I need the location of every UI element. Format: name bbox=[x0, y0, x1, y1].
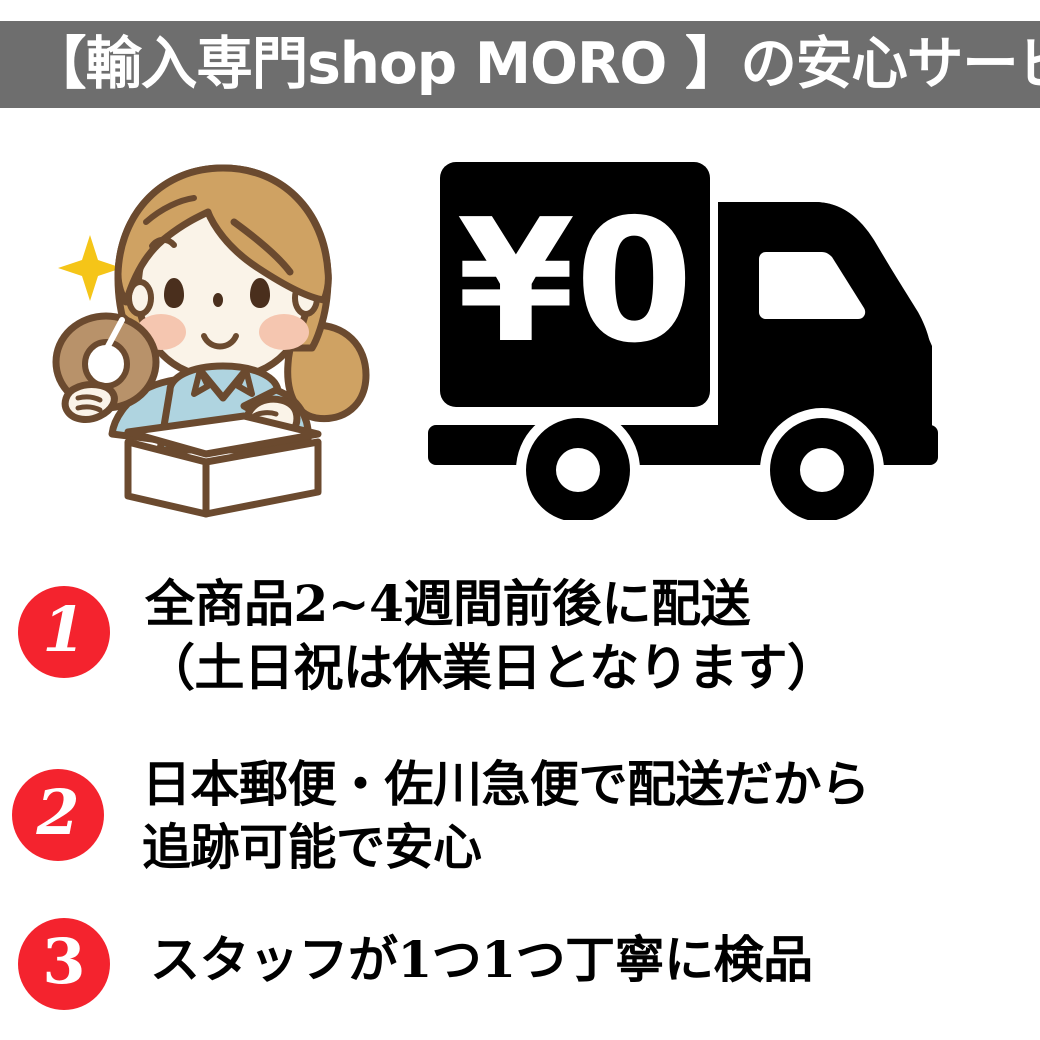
cheek-right bbox=[259, 314, 309, 350]
service-info-banner: 【輸入専門shop MORO 】の安心サービス bbox=[0, 0, 1040, 1040]
truck-wheel-rear-hub bbox=[556, 448, 600, 492]
free-shipping-truck-illustration: ¥0 bbox=[418, 140, 988, 520]
sparkle-icon bbox=[58, 235, 122, 301]
point-badge-1: 1 bbox=[18, 586, 110, 678]
point-text-1: 全商品2~4週間前後に配送 （土日祝は休業日となります） bbox=[145, 572, 1028, 700]
point-badge-2: 2 bbox=[12, 769, 104, 861]
truck-illustration-svg: ¥0 bbox=[418, 140, 988, 520]
list-item: 2 日本郵便・佐川急便で配送だから 追跡可能で安心 bbox=[12, 761, 1028, 878]
point-text-3: スタッフが1つ1つ丁寧に検品 bbox=[150, 928, 1028, 992]
list-item: 3 スタッフが1つ1つ丁寧に検品 bbox=[18, 918, 1028, 1010]
illustration-row: ¥0 bbox=[0, 120, 1040, 520]
page-title: 【輸入専門shop MORO 】の安心サービス bbox=[30, 36, 1040, 93]
point-text-2: 日本郵便・佐川急便で配送だから 追跡可能で安心 bbox=[142, 753, 1028, 878]
hand-left bbox=[65, 385, 114, 420]
staff-inspecting-package-illustration bbox=[48, 150, 398, 520]
staff-illustration-svg bbox=[48, 150, 398, 520]
list-item: 1 全商品2~4週間前後に配送 （土日祝は休業日となります） bbox=[18, 586, 1028, 700]
truck-price-label: ¥0 bbox=[457, 183, 694, 381]
nose bbox=[213, 293, 223, 307]
header-bar: 【輸入専門shop MORO 】の安心サービス bbox=[0, 21, 1040, 108]
package-box bbox=[128, 416, 318, 514]
point-badge-3: 3 bbox=[18, 918, 110, 1010]
truck-wheel-front-hub bbox=[800, 448, 844, 492]
